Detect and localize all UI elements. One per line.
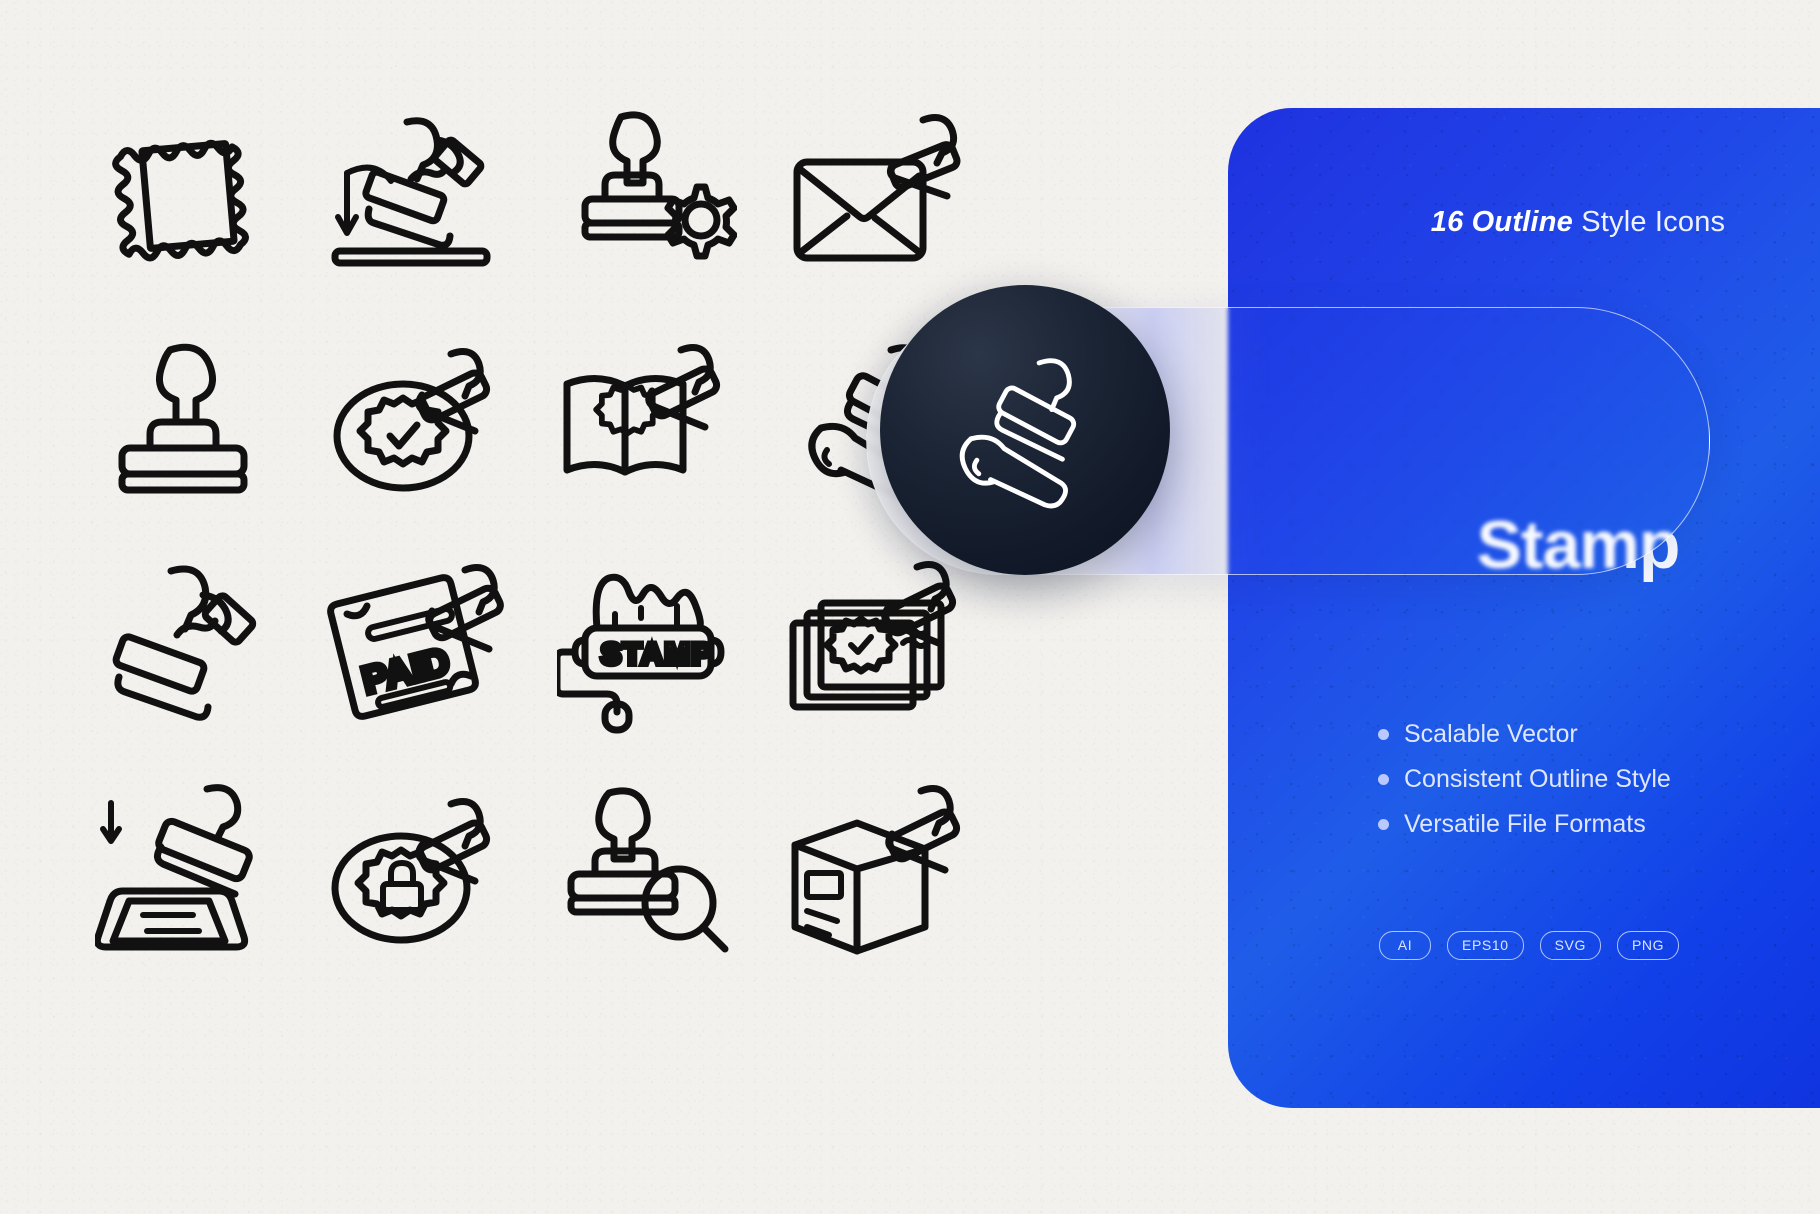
icon-cell-stamp-roller[interactable]: STAMP xyxy=(532,532,762,757)
stamped-book-icon xyxy=(557,332,737,507)
stamp-roller-icon: STAMP xyxy=(557,556,737,734)
bullet-dot-icon xyxy=(1378,819,1389,830)
info-panel: 16 Outline Style Icons Stamp Scalable Ve… xyxy=(1228,108,1820,1108)
icon-cell-stamp-search[interactable] xyxy=(532,757,762,982)
paid-document-icon: PAID xyxy=(325,556,510,734)
postage-stamp-icon xyxy=(100,107,275,282)
feature-item: Versatile File Formats xyxy=(1378,810,1671,839)
format-badge-png: PNG xyxy=(1617,931,1679,960)
approved-badge-stamp-icon xyxy=(327,332,507,507)
feature-label: Consistent Outline Style xyxy=(1404,765,1671,794)
hand-stamping-icon xyxy=(325,105,510,285)
stamp-press-document-icon xyxy=(95,781,280,959)
panel-header-rest: Style Icons xyxy=(1573,206,1725,238)
bullet-dot-icon xyxy=(1378,729,1389,740)
format-badge-ai: AI xyxy=(1379,931,1431,960)
icon-cell-rubber-stamp[interactable] xyxy=(72,307,302,532)
icon-grid: PAID STAMP xyxy=(72,82,992,982)
security-stamp-icon xyxy=(327,782,507,957)
icon-cell-postage-stamp[interactable] xyxy=(72,82,302,307)
format-badge-eps10: EPS10 xyxy=(1447,931,1524,960)
icon-cell-approved-badge-stamp[interactable] xyxy=(302,307,532,532)
stamp-search-icon xyxy=(557,781,737,959)
stamp-on-scroll-icon xyxy=(938,343,1113,518)
rubber-stamp-icon xyxy=(100,332,275,507)
icon-cell-stamp-settings[interactable] xyxy=(532,82,762,307)
icon-cell-stamp-press-document[interactable] xyxy=(72,757,302,982)
icon-cell-hand-holding-stamp[interactable] xyxy=(72,532,302,757)
bullet-dot-icon xyxy=(1378,774,1389,785)
icon-cell-paid-document[interactable]: PAID xyxy=(302,532,532,757)
poster-canvas: PAID STAMP xyxy=(0,0,1820,1214)
stamped-envelope-icon xyxy=(787,110,967,280)
format-badge-list: AI EPS10 SVG PNG xyxy=(1379,931,1679,960)
feature-label: Scalable Vector xyxy=(1404,720,1578,749)
svg-text:STAMP: STAMP xyxy=(601,638,714,671)
panel-header: 16 Outline Style Icons xyxy=(1228,206,1820,239)
stamped-parcel-icon xyxy=(785,781,970,959)
format-badge-svg: SVG xyxy=(1540,931,1601,960)
stamp-settings-icon xyxy=(557,105,737,285)
icon-cell-stamped-parcel[interactable] xyxy=(762,757,992,982)
feature-list: Scalable Vector Consistent Outline Style… xyxy=(1378,720,1671,839)
icon-cell-stamped-envelope[interactable] xyxy=(762,82,992,307)
hand-holding-stamp-icon xyxy=(97,557,277,732)
icon-cell-stamped-book[interactable] xyxy=(532,307,762,532)
feature-label: Versatile File Formats xyxy=(1404,810,1646,839)
panel-header-emphasis: 16 Outline xyxy=(1431,206,1573,238)
feature-icon-circle xyxy=(880,285,1170,575)
stamped-documents-icon xyxy=(785,557,970,732)
feature-item: Consistent Outline Style xyxy=(1378,765,1671,794)
icon-cell-hand-stamping[interactable] xyxy=(302,82,532,307)
icon-cell-security-stamp[interactable] xyxy=(302,757,532,982)
feature-item: Scalable Vector xyxy=(1378,720,1671,749)
